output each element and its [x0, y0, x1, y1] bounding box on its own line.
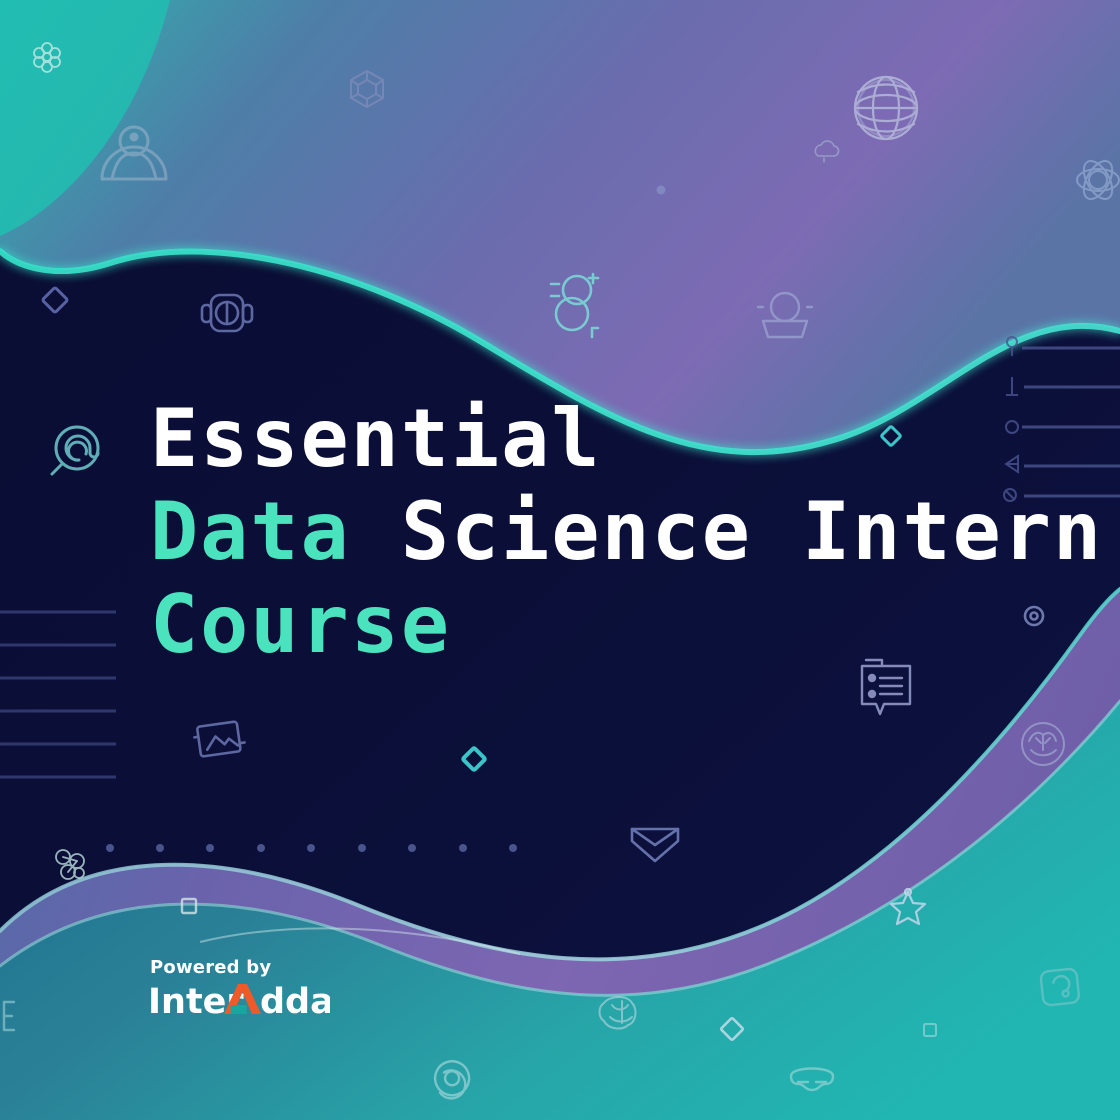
background-artwork	[0, 0, 1120, 1120]
interadda-wordmark: Inter dda	[148, 980, 330, 1022]
powered-by-label: Powered by	[150, 958, 330, 978]
dot-icon	[657, 186, 666, 195]
course-banner: Essential Data Science Intern Course Pow…	[0, 0, 1120, 1120]
logo-suffix: dda	[260, 982, 330, 1022]
brand-logo: Powered by Inter dda	[148, 958, 330, 1022]
interadda-wordmark-svg: Inter dda	[148, 980, 330, 1022]
